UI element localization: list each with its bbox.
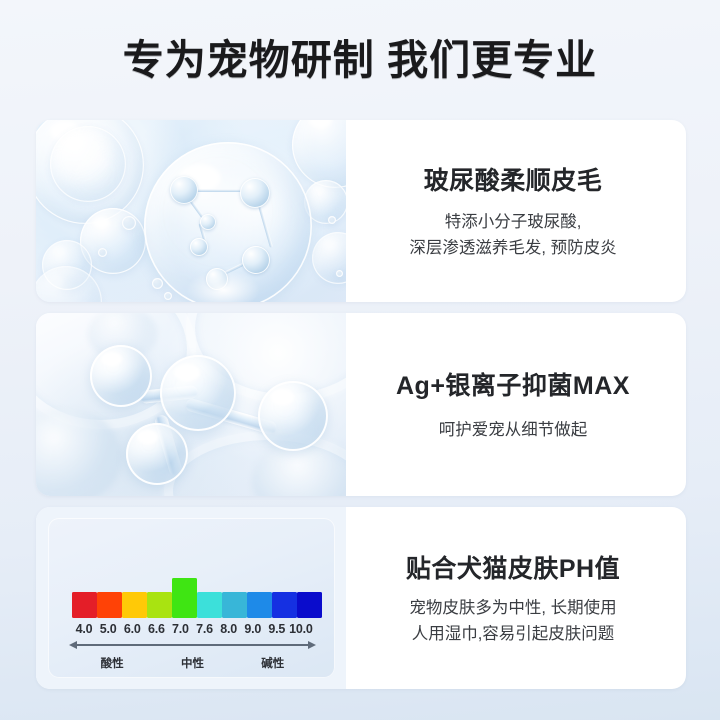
ph-swatch bbox=[197, 592, 222, 618]
ph-tick-label: 8.0 bbox=[217, 622, 241, 636]
ph-chart-inner: 4.05.06.06.67.07.68.09.09.510.0 酸性 中性 碱性 bbox=[72, 576, 313, 671]
ph-swatch bbox=[97, 592, 122, 618]
feature-copy: Ag+银离子抑菌MAX 呵护爱宠从细节做起 bbox=[346, 313, 686, 496]
feature-image-water-bubbles bbox=[36, 120, 346, 302]
feature-headline: Ag+银离子抑菌MAX bbox=[396, 366, 630, 402]
ph-tick-label: 6.6 bbox=[144, 622, 168, 636]
ph-swatch-column bbox=[147, 592, 172, 618]
ph-zone-label-alkaline: 碱性 bbox=[233, 655, 313, 671]
ph-tick-label: 5.0 bbox=[96, 622, 120, 636]
bubble-icon bbox=[122, 216, 136, 230]
ph-tick-label: 6.0 bbox=[120, 622, 144, 636]
bubble-icon bbox=[152, 278, 163, 289]
feature-subtext-line: 人用湿巾,容易引起皮肤问题 bbox=[409, 622, 616, 648]
bubble-icon bbox=[164, 292, 172, 300]
ph-swatch-column bbox=[272, 592, 297, 618]
page-title: 专为宠物研制 我们更专业 bbox=[123, 26, 597, 86]
ph-tick-label: 7.6 bbox=[192, 622, 216, 636]
feature-copy: 玻尿酸柔顺皮毛 特添小分子玻尿酸, 深层渗透滋养毛发, 预防皮炎 bbox=[346, 120, 686, 302]
feature-image-ph-scale: 4.05.06.06.67.07.68.09.09.510.0 酸性 中性 碱性 bbox=[36, 507, 346, 689]
feature-subtext-line: 呵护爱宠从细节做起 bbox=[439, 418, 588, 444]
feature-subtext: 宠物皮肤多为中性, 长期使用 人用湿巾,容易引起皮肤问题 bbox=[409, 596, 616, 647]
ph-swatch bbox=[147, 592, 172, 618]
ph-tick-labels: 4.05.06.06.67.07.68.09.09.510.0 bbox=[72, 622, 313, 636]
molecule-atom bbox=[160, 355, 236, 431]
ph-swatch bbox=[247, 592, 272, 618]
ph-swatch-column bbox=[197, 592, 222, 618]
ph-swatch-row bbox=[72, 576, 313, 618]
ph-swatch-column bbox=[172, 578, 197, 618]
molecule-atom bbox=[258, 381, 328, 451]
feature-subtext-line: 特添小分子玻尿酸, bbox=[409, 210, 616, 236]
highlight-glow bbox=[186, 270, 260, 302]
feature-card-silver-ion: Ag+银离子抑菌MAX 呵护爱宠从细节做起 bbox=[36, 313, 686, 496]
ph-tick-label: 4.0 bbox=[72, 622, 96, 636]
ph-tick-label: 7.0 bbox=[168, 622, 192, 636]
feature-subtext-line: 宠物皮肤多为中性, 长期使用 bbox=[409, 596, 616, 622]
ph-swatch bbox=[297, 592, 322, 618]
ph-chart: 4.05.06.06.67.07.68.09.09.510.0 酸性 中性 碱性 bbox=[48, 518, 335, 678]
ph-tick-label: 9.5 bbox=[265, 622, 289, 636]
ph-swatch bbox=[122, 592, 147, 618]
feature-headline: 玻尿酸柔顺皮毛 bbox=[424, 161, 603, 197]
ph-swatch bbox=[222, 592, 247, 618]
ph-zone-label-acidic: 酸性 bbox=[72, 655, 152, 671]
ph-tick-label: 10.0 bbox=[289, 622, 313, 636]
ph-zone-label-neutral: 中性 bbox=[152, 655, 232, 671]
bubble-icon bbox=[328, 216, 336, 224]
bubble-icon bbox=[50, 126, 126, 202]
bubble-icon bbox=[98, 248, 107, 257]
ph-swatch bbox=[72, 592, 97, 618]
ph-axis-line bbox=[76, 644, 309, 646]
feature-headline: 贴合犬猫皮肤PH值 bbox=[406, 549, 620, 585]
ph-swatch-column bbox=[97, 592, 122, 618]
ph-swatch-column bbox=[247, 592, 272, 618]
ph-zone-labels: 酸性 中性 碱性 bbox=[72, 655, 313, 671]
feature-subtext: 呵护爱宠从细节做起 bbox=[439, 418, 588, 444]
ph-swatch-column bbox=[222, 592, 247, 618]
ph-swatch-column bbox=[297, 592, 322, 618]
ph-swatch-column bbox=[122, 592, 147, 618]
feature-card-ph-value: 4.05.06.06.67.07.68.09.09.510.0 酸性 中性 碱性… bbox=[36, 507, 686, 689]
product-feature-page: 专为宠物研制 我们更专业 bbox=[0, 0, 720, 720]
feature-card-hyaluronic-acid: 玻尿酸柔顺皮毛 特添小分子玻尿酸, 深层渗透滋养毛发, 预防皮炎 bbox=[36, 120, 686, 302]
ph-tick-label: 9.0 bbox=[241, 622, 265, 636]
ph-swatch-column bbox=[72, 592, 97, 618]
feature-copy: 贴合犬猫皮肤PH值 宠物皮肤多为中性, 长期使用 人用湿巾,容易引起皮肤问题 bbox=[346, 507, 686, 689]
feature-image-glass-molecule bbox=[36, 313, 346, 496]
ph-swatch bbox=[172, 578, 197, 618]
ph-swatch bbox=[272, 592, 297, 618]
ph-axis bbox=[72, 639, 313, 651]
molecule-atom bbox=[90, 345, 152, 407]
feature-subtext-line: 深层渗透滋养毛发, 预防皮炎 bbox=[409, 236, 616, 262]
page-title-container: 专为宠物研制 我们更专业 bbox=[0, 0, 720, 112]
bubble-icon bbox=[336, 270, 343, 277]
molecule-atom bbox=[126, 423, 188, 485]
feature-subtext: 特添小分子玻尿酸, 深层渗透滋养毛发, 预防皮炎 bbox=[409, 210, 616, 261]
